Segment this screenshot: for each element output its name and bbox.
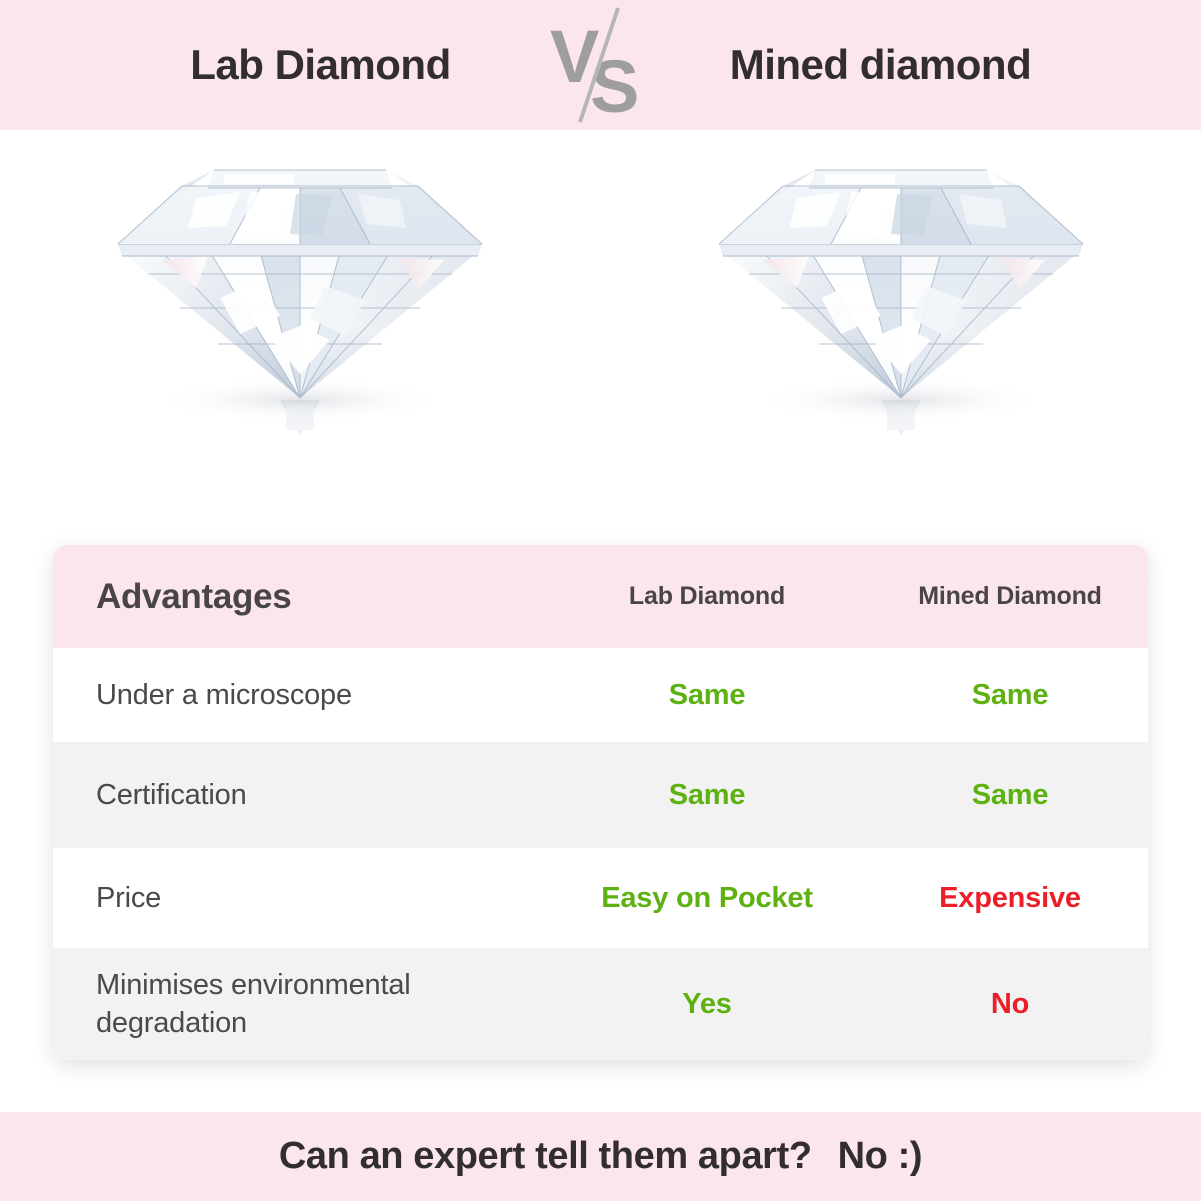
mined-value-cell: No — [872, 948, 1148, 1060]
feature-label: Minimises environmental degradation — [96, 966, 530, 1043]
lab-value: Yes — [682, 988, 731, 1021]
table-header-mined: Mined Diamond — [872, 545, 1148, 648]
feature-cell: Certification — [53, 742, 542, 848]
mined-value-cell: Same — [872, 648, 1148, 742]
table-header-lab-label: Lab Diamond — [629, 582, 785, 611]
mined-value: Expensive — [939, 882, 1081, 915]
footer-question: Can an expert tell them apart? — [279, 1135, 812, 1178]
table-row: Minimises environmental degradation Yes … — [53, 948, 1148, 1060]
lab-value-cell: Same — [542, 648, 872, 742]
table-header-advantages: Advantages — [53, 545, 542, 648]
table-row: Under a microscope Same Same — [53, 648, 1148, 742]
feature-label: Under a microscope — [96, 676, 352, 714]
comparison-table: Advantages Lab Diamond Mined Diamond Und… — [53, 545, 1148, 1060]
feature-cell: Price — [53, 848, 542, 948]
header-title-lab: Lab Diamond — [106, 41, 536, 89]
mined-value: No — [991, 988, 1029, 1021]
lab-value: Easy on Pocket — [601, 882, 813, 915]
table-header-advantages-label: Advantages — [96, 577, 291, 617]
lab-value-cell: Yes — [542, 948, 872, 1060]
diamond-image-lab — [0, 130, 600, 535]
lab-value-cell: Same — [542, 742, 872, 848]
table-header-mined-label: Mined Diamond — [918, 582, 1102, 611]
table-header-row: Advantages Lab Diamond Mined Diamond — [53, 545, 1148, 648]
lab-value-cell: Easy on Pocket — [542, 848, 872, 948]
footer-answer: No :) — [838, 1135, 923, 1178]
feature-cell: Minimises environmental degradation — [53, 948, 542, 1060]
mined-value: Same — [972, 679, 1049, 712]
diamond-image-mined — [600, 130, 1201, 535]
svg-text:S: S — [590, 45, 639, 128]
lab-value: Same — [669, 779, 746, 812]
lab-value: Same — [669, 679, 746, 712]
infographic-root: Lab Diamond V S Mined diamond — [0, 0, 1201, 1201]
feature-label: Price — [96, 879, 161, 917]
header-title-mined: Mined diamond — [666, 41, 1096, 89]
footer-band: Can an expert tell them apart? No :) — [0, 1112, 1201, 1201]
table-row: Price Easy on Pocket Expensive — [53, 848, 1148, 948]
mined-value: Same — [972, 779, 1049, 812]
diamond-images-row — [0, 130, 1201, 535]
vs-icon: V S — [536, 0, 666, 130]
mined-value-cell: Same — [872, 742, 1148, 848]
header-band: Lab Diamond V S Mined diamond — [0, 0, 1201, 130]
mined-value-cell: Expensive — [872, 848, 1148, 948]
feature-cell: Under a microscope — [53, 648, 542, 742]
table-header-lab: Lab Diamond — [542, 545, 872, 648]
table-row: Certification Same Same — [53, 742, 1148, 848]
feature-label: Certification — [96, 776, 247, 814]
